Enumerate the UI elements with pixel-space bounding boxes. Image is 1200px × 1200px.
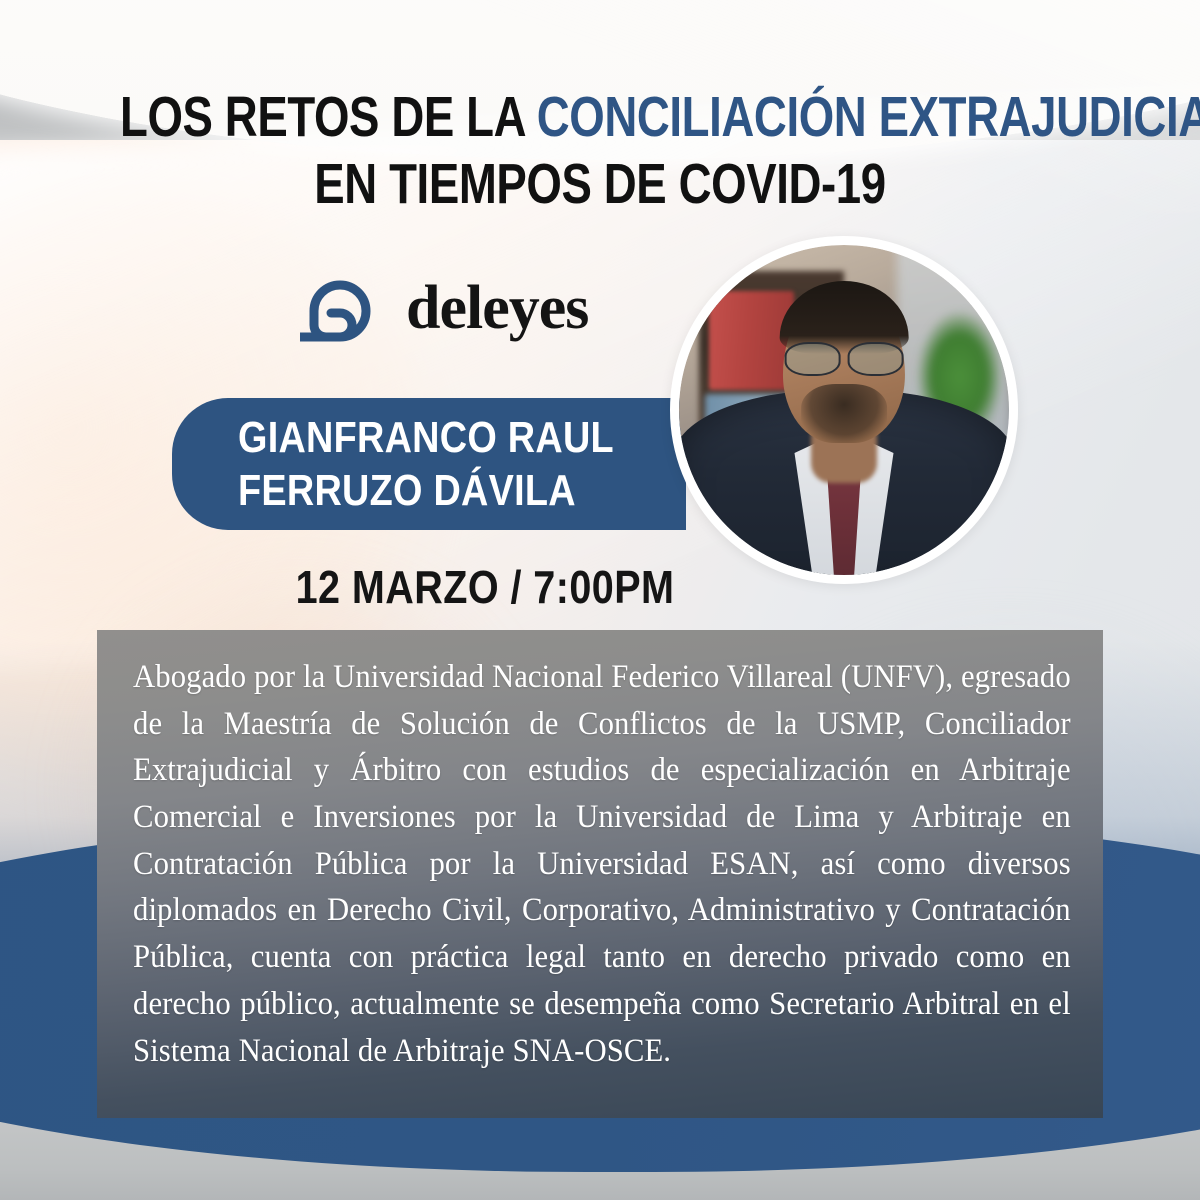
speaker-bio-box: Abogado por la Universidad Nacional Fede… xyxy=(97,630,1103,1118)
poster-canvas: LOS RETOS DE LA CONCILIACIÓN EXTRAJUDICI… xyxy=(0,0,1200,1200)
speaker-photo xyxy=(670,236,1018,584)
title-line-1-accent: CONCILIACIÓN EXTRAJUDICIAL xyxy=(537,85,1200,149)
photo-glasses-right-lens xyxy=(847,342,903,376)
photo-glasses xyxy=(785,344,904,374)
poster-title: LOS RETOS DE LA CONCILIACIÓN EXTRAJUDICI… xyxy=(0,84,1200,217)
brand-name: deleyes xyxy=(406,277,588,339)
photo-beard xyxy=(801,384,887,443)
deleyes-spiral-icon xyxy=(300,272,386,344)
title-line-2: EN TIEMPOS DE COVID-19 xyxy=(120,151,1080,218)
speaker-bio-text: Abogado por la Universidad Nacional Fede… xyxy=(133,654,1071,1074)
title-line-1-plain: LOS RETOS DE LA xyxy=(120,85,537,149)
speaker-name-line-2: FERRUZO DÁVILA xyxy=(238,464,623,517)
title-line-1: LOS RETOS DE LA CONCILIACIÓN EXTRAJUDICI… xyxy=(120,84,1080,151)
speaker-name-banner: GIANFRANCO RAUL FERRUZO DÁVILA xyxy=(172,398,686,530)
brand-logo: deleyes xyxy=(300,272,588,344)
speaker-name-line-1: GIANFRANCO RAUL xyxy=(238,411,623,464)
photo-glasses-left-lens xyxy=(785,342,841,376)
speaker-photo-image xyxy=(679,245,1009,575)
